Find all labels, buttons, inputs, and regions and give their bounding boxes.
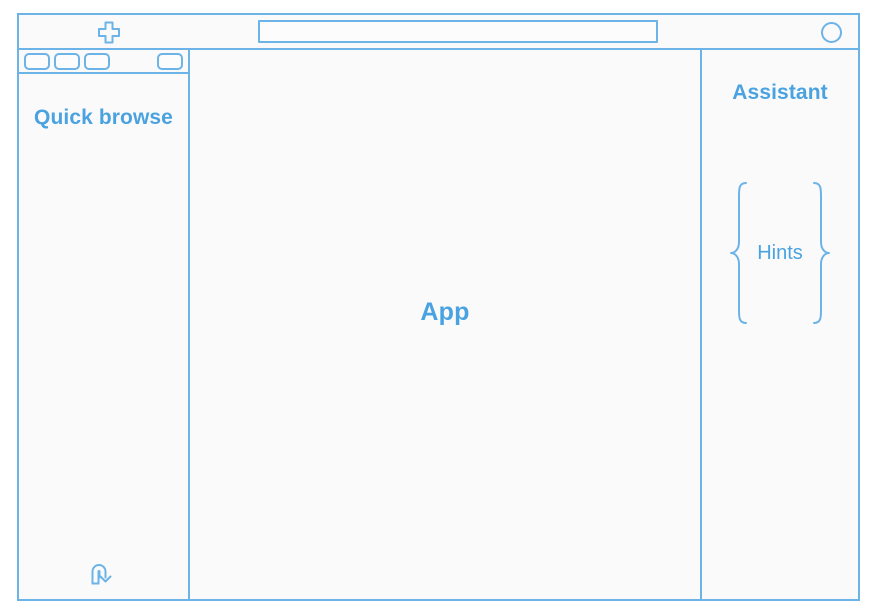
hints-label: Hints (750, 242, 810, 265)
circle-avatar-icon[interactable] (821, 22, 842, 43)
assistant-title: Assistant (702, 81, 858, 105)
sidebar-toolbar (19, 50, 188, 74)
sidebar-title: Quick browse (19, 104, 188, 132)
assistant-panel: Assistant Hints (702, 50, 858, 599)
sidebar-content: Quick browse (19, 74, 188, 599)
u-turn-arrow-icon[interactable] (88, 560, 118, 587)
sidebar-toolbar-button-2[interactable] (54, 53, 80, 70)
hints-group: Hints (702, 178, 858, 328)
sidebar-toolbar-button-1[interactable] (24, 53, 50, 70)
search-input-value (260, 22, 656, 28)
plus-icon[interactable] (97, 21, 121, 44)
app-content-area: App (190, 50, 702, 599)
close-brace-icon (810, 180, 832, 326)
sidebar-panel: Quick browse (19, 50, 190, 599)
open-brace-icon (728, 180, 750, 326)
app-window: Quick browse App Ass (17, 13, 860, 601)
app-label: App (420, 298, 469, 327)
wireframe-canvas: Quick browse App Ass (0, 0, 879, 616)
window-body: Quick browse App Ass (19, 50, 858, 599)
top-bar (19, 15, 858, 50)
sidebar-toolbar-button-3[interactable] (84, 53, 110, 70)
sidebar-toolbar-button-4[interactable] (157, 53, 183, 70)
search-input[interactable] (258, 20, 658, 43)
